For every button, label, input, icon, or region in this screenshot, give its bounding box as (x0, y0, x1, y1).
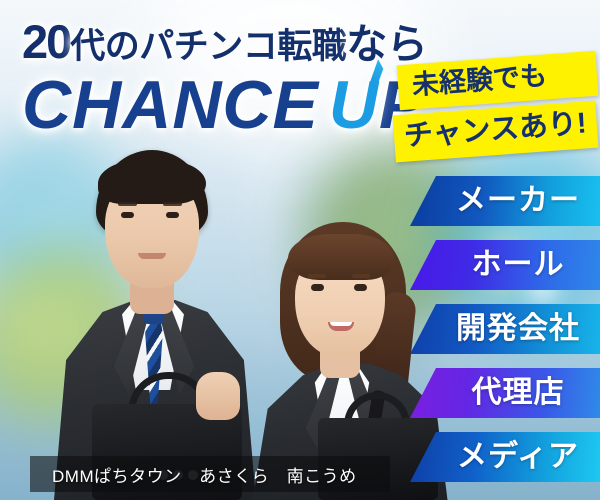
footer-credit-strip: DMMぱちタウン あさくら 南こうめ (30, 456, 390, 492)
badge-chance-available: チャンスあり! (393, 101, 599, 163)
tag-development-company[interactable]: 開発会社 (410, 304, 600, 354)
eyebrow (118, 202, 137, 206)
logotype-chance-up: CHANCEUP (22, 71, 427, 139)
callout-badge-group: 未経験でも チャンスあり! (398, 58, 597, 155)
tag-agency-label: 代理店 (472, 378, 565, 408)
logotype-word-chance: CHANCE (22, 67, 319, 143)
tag-media[interactable]: メディア (410, 432, 600, 482)
headline-block: 20代のパチンコ転職なら CHANCEUP (22, 18, 427, 139)
hair-fringe (98, 160, 206, 204)
tag-hall-label: ホール (472, 250, 565, 280)
hand (196, 372, 240, 420)
footer-credit-text: DMMぱちタウン あさくら 南こうめ (52, 462, 357, 487)
hair-fringe (288, 234, 394, 280)
tag-hall[interactable]: ホール (410, 240, 600, 290)
headline-number: 20 (22, 15, 70, 68)
advertisement-banner[interactable]: 20代のパチンコ転職なら CHANCEUP 未経験でも チャンスあり! メーカー… (0, 0, 600, 500)
tag-media-label: メディア (457, 442, 579, 472)
eyebrow (308, 274, 326, 278)
tag-agency[interactable]: 代理店 (410, 368, 600, 418)
tag-maker-label: メーカー (456, 186, 580, 216)
tag-maker[interactable]: メーカー (410, 176, 600, 226)
headline-catchcopy: 20代のパチンコ転職なら (22, 18, 427, 65)
teeth (330, 322, 352, 326)
eyebrow (352, 274, 370, 278)
eye (311, 284, 324, 291)
mouth (138, 253, 166, 259)
badge-no-experience: 未経験でも (397, 51, 599, 110)
tag-development-company-label: 開発会社 (456, 314, 580, 344)
eye (121, 212, 134, 218)
eye (166, 212, 179, 218)
headline-body: 代のパチンコ転職 (70, 27, 346, 66)
eyebrow (163, 202, 182, 206)
logotype-letter-u: U (329, 71, 379, 139)
eye (354, 284, 367, 291)
category-tag-list: メーカー ホール 開発会社 代理店 メディア (410, 176, 600, 482)
